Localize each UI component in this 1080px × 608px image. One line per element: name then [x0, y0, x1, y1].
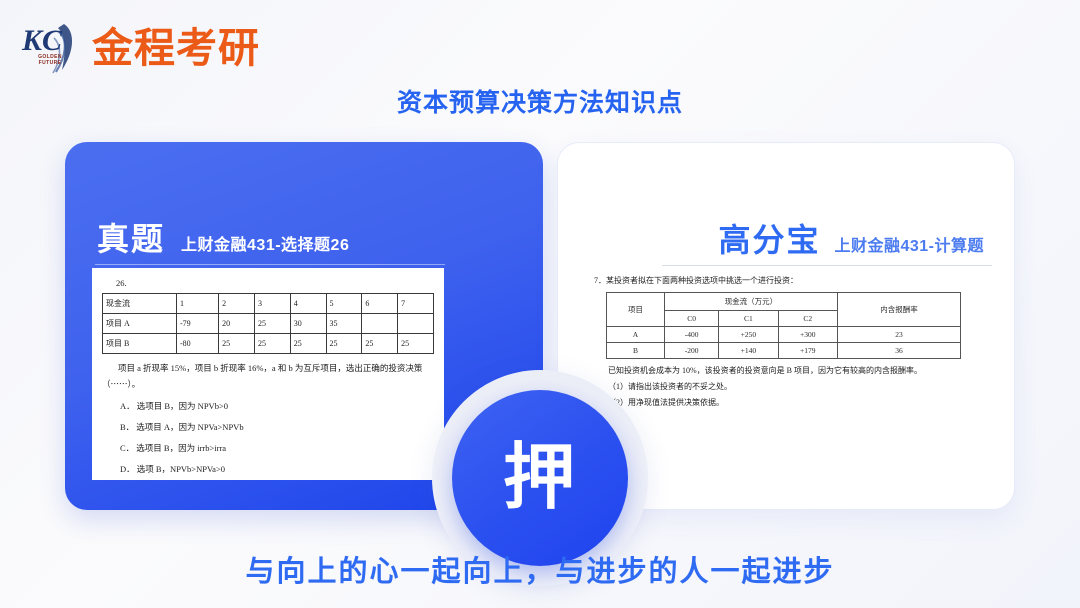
left-question-number: 26. [116, 278, 434, 288]
left-cashflow-table: 现金流 1 2 3 4 5 6 7 项目 A -79 20 25 30 35 [102, 293, 434, 354]
th-y6: 6 [362, 294, 398, 314]
left-document-card: 26. 现金流 1 2 3 4 5 6 7 项目 A -79 20 25 [92, 268, 444, 480]
row-b-c1: -80 [176, 334, 218, 354]
row-a-c4: 30 [290, 314, 326, 334]
left-stem-line1: 项目 a 折现率 15%，项目 b 折现率 16%，a 和 b 为互斥项目，选出… [102, 360, 434, 376]
page-title: 资本预算决策方法知识点 [0, 83, 1080, 119]
page-header: KC GOLDEN FUTURE 金程考研 资本预算决策方法知识点 [0, 0, 1080, 140]
th-cashflow: 现金流 [103, 294, 177, 314]
left-stem-line2: （⋯⋯）。 [102, 376, 434, 392]
table-row: A -400 +250 +300 23 [607, 326, 961, 342]
th-irr: 内含报酬率 [837, 292, 960, 326]
th-y3: 3 [254, 294, 290, 314]
table-row: 现金流 1 2 3 4 5 6 7 [103, 294, 434, 314]
r-row-a-irr: 23 [837, 326, 960, 342]
left-question-stem: 项目 a 折现率 15%，项目 b 折现率 16%，a 和 b 为互斥项目，选出… [102, 360, 434, 392]
th-c2: C2 [778, 310, 837, 326]
r-row-b-c0: -200 [664, 342, 718, 358]
r-row-b-c1: +140 [719, 342, 778, 358]
right-subquestion-2: （2）用净现值法提供决策依据。 [608, 395, 980, 411]
r-row-a-c2: +300 [778, 326, 837, 342]
r-row-a-c0: -400 [664, 326, 718, 342]
left-heading-sub: 上财金融431-选择题26 [181, 231, 349, 255]
row-a-c7 [398, 314, 434, 334]
right-panel-heading: 高分宝 上财金融431-计算题 [718, 215, 984, 261]
right-note: 已知投资机会成本为 10%，该投资者的投资意向是 B 项目，因为它有较高的内含报… [594, 364, 980, 379]
row-b-label: 项目 B [103, 334, 177, 354]
table-row: B -200 +140 +179 36 [607, 342, 961, 358]
row-a-c2: 20 [219, 314, 255, 334]
row-a-c6 [362, 314, 398, 334]
brand-name: 金程考研 [92, 28, 260, 69]
left-panel-heading: 真题 上财金融431-选择题26 [97, 214, 349, 260]
right-heading-main: 高分宝 [718, 215, 820, 261]
badge-label: 押 [503, 442, 577, 514]
th-y7: 7 [398, 294, 434, 314]
footer-slogan: 与向上的心一起向上，与进步的人一起进步 [0, 548, 1080, 590]
kc-logo-icon: KC GOLDEN FUTURE [18, 18, 90, 78]
r-row-a-c1: +250 [719, 326, 778, 342]
r-row-b-c2: +179 [778, 342, 837, 358]
brand-logo: KC GOLDEN FUTURE 金程考研 [18, 18, 260, 78]
row-b-c2: 25 [219, 334, 255, 354]
th-cashflow-group: 现金流（万元） [664, 292, 837, 310]
left-heading-main: 真题 [97, 214, 165, 260]
row-a-c3: 25 [254, 314, 290, 334]
th-y2: 2 [219, 294, 255, 314]
th-y1: 1 [176, 294, 218, 314]
table-row: 项目 B -80 25 25 25 25 25 25 [103, 334, 434, 354]
r-row-a-label: A [607, 326, 665, 342]
row-a-c5: 35 [326, 314, 362, 334]
right-subquestion-1: （1）请指出该投资者的不妥之处。 [608, 379, 980, 395]
table-row: 项目 A -79 20 25 30 35 [103, 314, 434, 334]
row-b-c3: 25 [254, 334, 290, 354]
table-row: 项目 现金流（万元） 内含报酬率 [607, 292, 961, 310]
row-b-c4: 25 [290, 334, 326, 354]
th-y4: 4 [290, 294, 326, 314]
option-d: D． 选项 B，NPVb>NPVa>0 [102, 459, 434, 480]
left-options-list: A． 选项目 B，因为 NPVb>0 B． 选项目 A，因为 NPVa>NPVb… [102, 396, 434, 479]
th-c1: C1 [719, 310, 778, 326]
th-item: 项目 [607, 292, 665, 326]
row-a-label: 项目 A [103, 314, 177, 334]
right-cashflow-table: 项目 现金流（万元） 内含报酬率 C0 C1 C2 A -400 +250 +3… [606, 292, 961, 359]
content-panels: 真题 上财金融431-选择题26 26. 现金流 1 2 3 4 5 6 7 项… [0, 142, 1080, 510]
row-b-c5: 25 [326, 334, 362, 354]
left-heading-divider [95, 264, 445, 265]
option-b: B． 选项目 A，因为 NPVa>NPVb [102, 417, 434, 438]
option-c: C． 选项目 B，因为 irrb>irra [102, 438, 434, 459]
r-row-b-label: B [607, 342, 665, 358]
badge-core: 押 [452, 390, 628, 566]
row-b-c6: 25 [362, 334, 398, 354]
r-row-b-irr: 36 [837, 342, 960, 358]
logo-tagline: GOLDEN FUTURE [30, 54, 70, 66]
right-question-line: 7．某投资者拟在下面两种投资选项中挑选一个进行投资： [594, 275, 980, 288]
th-c0: C0 [664, 310, 718, 326]
right-heading-divider [662, 265, 992, 266]
th-y5: 5 [326, 294, 362, 314]
row-b-c7: 25 [398, 334, 434, 354]
row-a-c1: -79 [176, 314, 218, 334]
option-a: A． 选项目 B，因为 NPVb>0 [102, 396, 434, 417]
right-heading-sub: 上财金融431-计算题 [834, 232, 984, 256]
